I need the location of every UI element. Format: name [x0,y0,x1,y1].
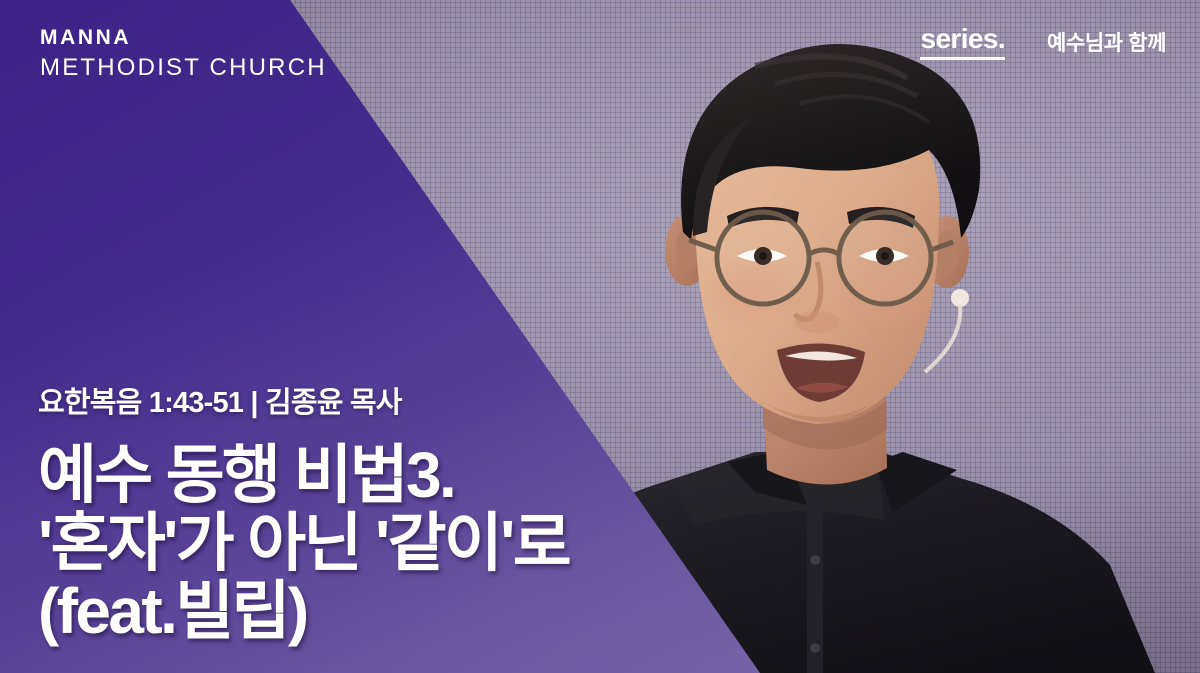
series-name: 예수님과 함께 [1047,27,1166,57]
sermon-text-block: 요한복음 1:43-51 | 김종윤 목사 예수 동행 비법3. '혼자'가 아… [38,379,569,645]
series-header: series. 예수님과 함께 [920,24,1166,60]
series-label: series. [920,24,1005,60]
sermon-thumbnail: MANNA METHODIST CHURCH series. 예수님과 함께 요… [0,0,1200,673]
logo-line-manna: MANNA [40,24,327,52]
church-logo: MANNA METHODIST CHURCH [40,24,327,84]
sermon-title-line-3: (feat.빌립) [38,579,569,645]
sermon-title-line-2: '혼자'가 아닌 '같이'로 [38,511,569,577]
scripture-and-speaker: 요한복음 1:43-51 | 김종윤 목사 [38,379,569,421]
sermon-title-line-1: 예수 동행 비법3. [38,443,569,509]
logo-line-methodist-church: METHODIST CHURCH [40,52,327,84]
